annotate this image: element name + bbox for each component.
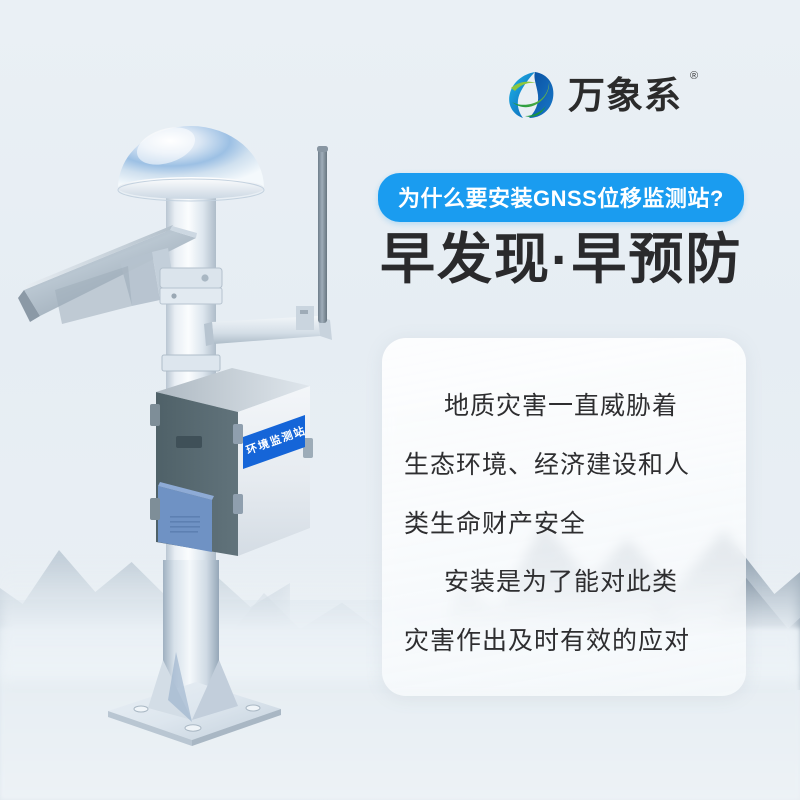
description-lines: 地质灾害一直威胁着 生态环境、经济建设和人 类生命财产安全 安装是为了能对此类 … (382, 338, 746, 696)
brand-lockup: 万象系 ® (505, 68, 698, 122)
description-line: 灾害作出及时有效的应对 (404, 617, 724, 666)
page-title: 早发现·早预防 (380, 228, 742, 291)
poster-root: 环境监测站 (0, 0, 800, 800)
trademark-symbol: ® (690, 70, 698, 82)
globe-swirl-logo-icon (505, 68, 557, 122)
description-line: 安装是为了能对此类 (404, 558, 724, 607)
brand-name: 万象系 (568, 77, 682, 114)
cross-arm (204, 306, 332, 346)
description-line: 类生命财产安全 (404, 500, 724, 549)
description-line: 生态环境、经济建设和人 (404, 441, 724, 490)
right-content-column: 万象系 ® 为什么要安装GNSS位移监测站? 早发现·早预防 地质灾害一直威胁着… (370, 0, 800, 800)
gnss-dome-antenna (118, 121, 264, 201)
control-enclosure (150, 368, 313, 556)
description-card: 地质灾害一直威胁着 生态环境、经济建设和人 类生命财产安全 安装是为了能对此类 … (382, 338, 746, 696)
device-illustration: 环境监测站 (0, 0, 380, 800)
question-pill: 为什么要安装GNSS位移监测站? (378, 173, 744, 222)
antenna-rod (317, 146, 328, 323)
description-line: 地质灾害一直威胁着 (404, 382, 724, 431)
